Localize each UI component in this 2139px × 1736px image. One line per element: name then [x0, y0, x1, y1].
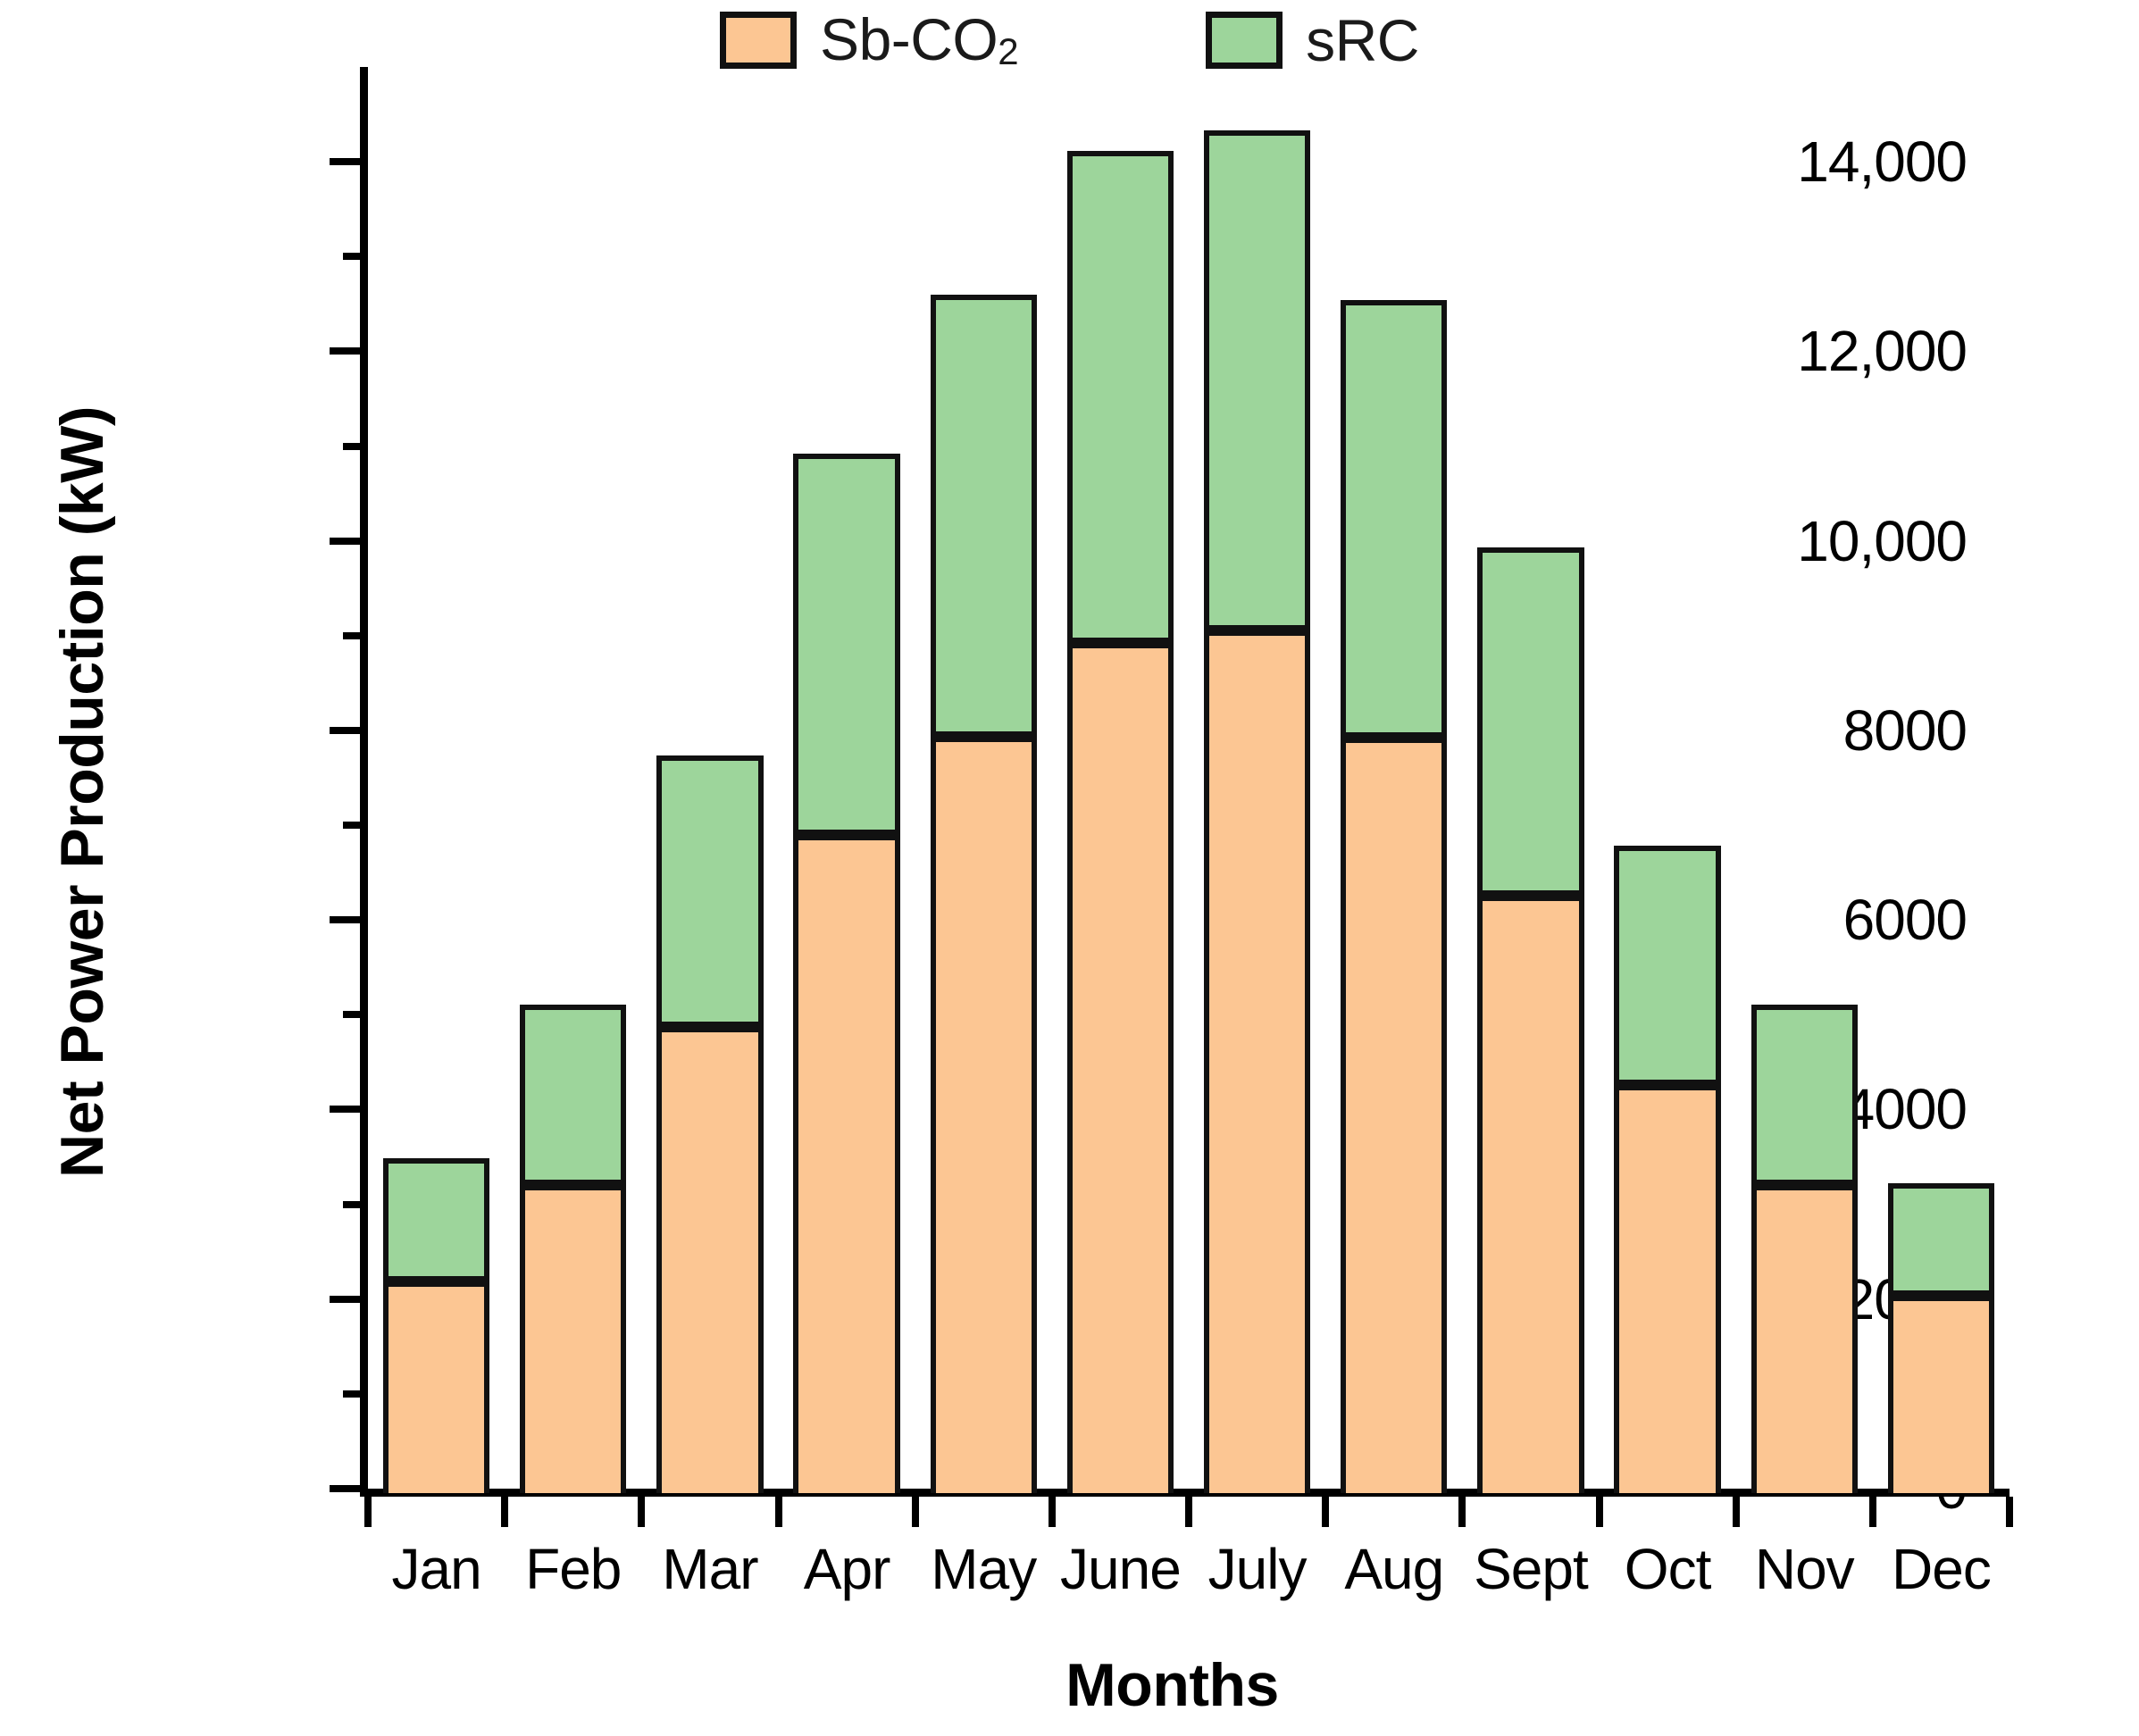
bar-group[interactable] — [383, 1158, 489, 1493]
bar-group[interactable] — [520, 1005, 626, 1493]
bar-segment-sb-co2[interactable] — [520, 1185, 626, 1493]
x-axis-tick-label: Nov — [1755, 1536, 1854, 1602]
bar-segment-sb-co2[interactable] — [1477, 896, 1583, 1493]
bar-group[interactable] — [656, 755, 763, 1493]
bar-segment-sb-co2[interactable] — [793, 835, 899, 1493]
x-axis-tick — [1869, 1497, 1876, 1527]
y-axis-tick-minor — [343, 1011, 360, 1018]
x-axis-tick-label: May — [931, 1536, 1036, 1602]
bar-group[interactable] — [1067, 151, 1174, 1493]
bar-series-container — [368, 67, 2009, 1493]
bar-segment-sb-co2[interactable] — [383, 1281, 489, 1493]
y-axis-tick-minor — [343, 632, 360, 639]
x-axis-title: Months — [335, 1650, 2009, 1720]
x-axis-tick — [2006, 1497, 2013, 1527]
bar-segment-src[interactable] — [656, 755, 763, 1027]
y-axis-tick-minor — [343, 253, 360, 260]
legend-label-sb-co2: Sb-CO2 — [820, 10, 1018, 71]
x-axis-tick-label: Oct — [1625, 1536, 1711, 1602]
x-axis-tick-label: Jan — [391, 1536, 480, 1602]
x-axis-tick-label: Apr — [804, 1536, 890, 1602]
bar-group[interactable] — [1614, 846, 1720, 1493]
x-axis-tick — [1596, 1497, 1603, 1527]
bar-segment-src[interactable] — [520, 1005, 626, 1185]
legend-swatch-src — [1206, 12, 1283, 69]
bar-segment-src[interactable] — [1067, 151, 1174, 643]
y-axis-tick-major — [330, 158, 360, 165]
bar-segment-src[interactable] — [1204, 130, 1310, 630]
x-axis-tick — [1322, 1497, 1329, 1527]
y-axis-tick-minor — [343, 1390, 360, 1398]
bar-segment-sb-co2[interactable] — [1614, 1085, 1720, 1493]
x-axis-tick-label: Mar — [662, 1536, 757, 1602]
bar-group[interactable] — [1888, 1183, 1994, 1493]
x-axis-tick — [501, 1497, 508, 1527]
chart-figure: Sb-CO2 sRC Net Power Production (kW) Mon… — [0, 0, 2139, 1736]
y-axis-line — [360, 67, 368, 1496]
bar-group[interactable] — [1204, 130, 1310, 1493]
bar-segment-sb-co2[interactable] — [931, 737, 1037, 1493]
y-axis-tick-major — [330, 1485, 360, 1492]
x-axis-tick-label: July — [1208, 1536, 1307, 1602]
plot-area: 0200040006000800010,00012,00014,000 JanF… — [360, 67, 2009, 1496]
y-axis-tick-major — [330, 1106, 360, 1113]
bar-group[interactable] — [1341, 300, 1447, 1493]
x-axis-tick-label: June — [1060, 1536, 1181, 1602]
bar-segment-sb-co2[interactable] — [656, 1027, 763, 1493]
x-axis-tick — [912, 1497, 919, 1527]
bar-group[interactable] — [1751, 1005, 1858, 1493]
legend-entry-sb-co2: Sb-CO2 — [720, 10, 1018, 71]
bar-segment-src[interactable] — [383, 1158, 489, 1281]
y-axis-tick-minor — [343, 1201, 360, 1208]
bar-segment-sb-co2[interactable] — [1341, 738, 1447, 1493]
bar-segment-src[interactable] — [1888, 1183, 1994, 1296]
x-axis-tick — [1185, 1497, 1192, 1527]
y-axis-tick-major — [330, 347, 360, 355]
bar-segment-src[interactable] — [1341, 300, 1447, 738]
bar-segment-sb-co2[interactable] — [1888, 1296, 1994, 1493]
bar-segment-src[interactable] — [1751, 1005, 1858, 1185]
bar-segment-sb-co2[interactable] — [1204, 630, 1310, 1493]
legend-label-src: sRC — [1306, 11, 1419, 70]
legend-label-sb-co2-text: Sb-CO — [820, 6, 998, 72]
x-axis-tick-label: Feb — [525, 1536, 621, 1602]
y-axis-tick-minor — [343, 822, 360, 829]
y-axis-title: Net Power Production (kW) — [47, 256, 117, 1328]
x-axis-tick — [1733, 1497, 1740, 1527]
x-axis-tick — [775, 1497, 782, 1527]
x-axis-tick — [1458, 1497, 1466, 1527]
bar-group[interactable] — [1477, 547, 1583, 1493]
y-axis-tick-major — [330, 916, 360, 923]
y-axis-tick-minor — [343, 443, 360, 450]
x-axis-tick — [638, 1497, 645, 1527]
legend-entry-src: sRC — [1206, 11, 1419, 70]
bar-group[interactable] — [931, 295, 1037, 1493]
bar-segment-src[interactable] — [1477, 547, 1583, 897]
y-axis-tick-major — [330, 538, 360, 545]
bar-segment-sb-co2[interactable] — [1751, 1185, 1858, 1493]
bar-segment-sb-co2[interactable] — [1067, 643, 1174, 1493]
y-axis-tick-major — [330, 727, 360, 734]
x-axis-tick-label: Sept — [1474, 1536, 1588, 1602]
x-axis-tick — [364, 1497, 372, 1527]
legend-label-sb-co2-subscript: 2 — [998, 30, 1018, 72]
bar-group[interactable] — [793, 454, 899, 1493]
x-axis-tick-label: Dec — [1892, 1536, 1991, 1602]
bar-segment-src[interactable] — [1614, 846, 1720, 1084]
y-axis-tick-major — [330, 1296, 360, 1303]
bar-segment-src[interactable] — [931, 295, 1037, 737]
legend-swatch-sb-co2 — [720, 12, 797, 69]
x-axis-tick-label: Aug — [1344, 1536, 1443, 1602]
x-axis-tick — [1049, 1497, 1056, 1527]
bar-segment-src[interactable] — [793, 454, 899, 836]
